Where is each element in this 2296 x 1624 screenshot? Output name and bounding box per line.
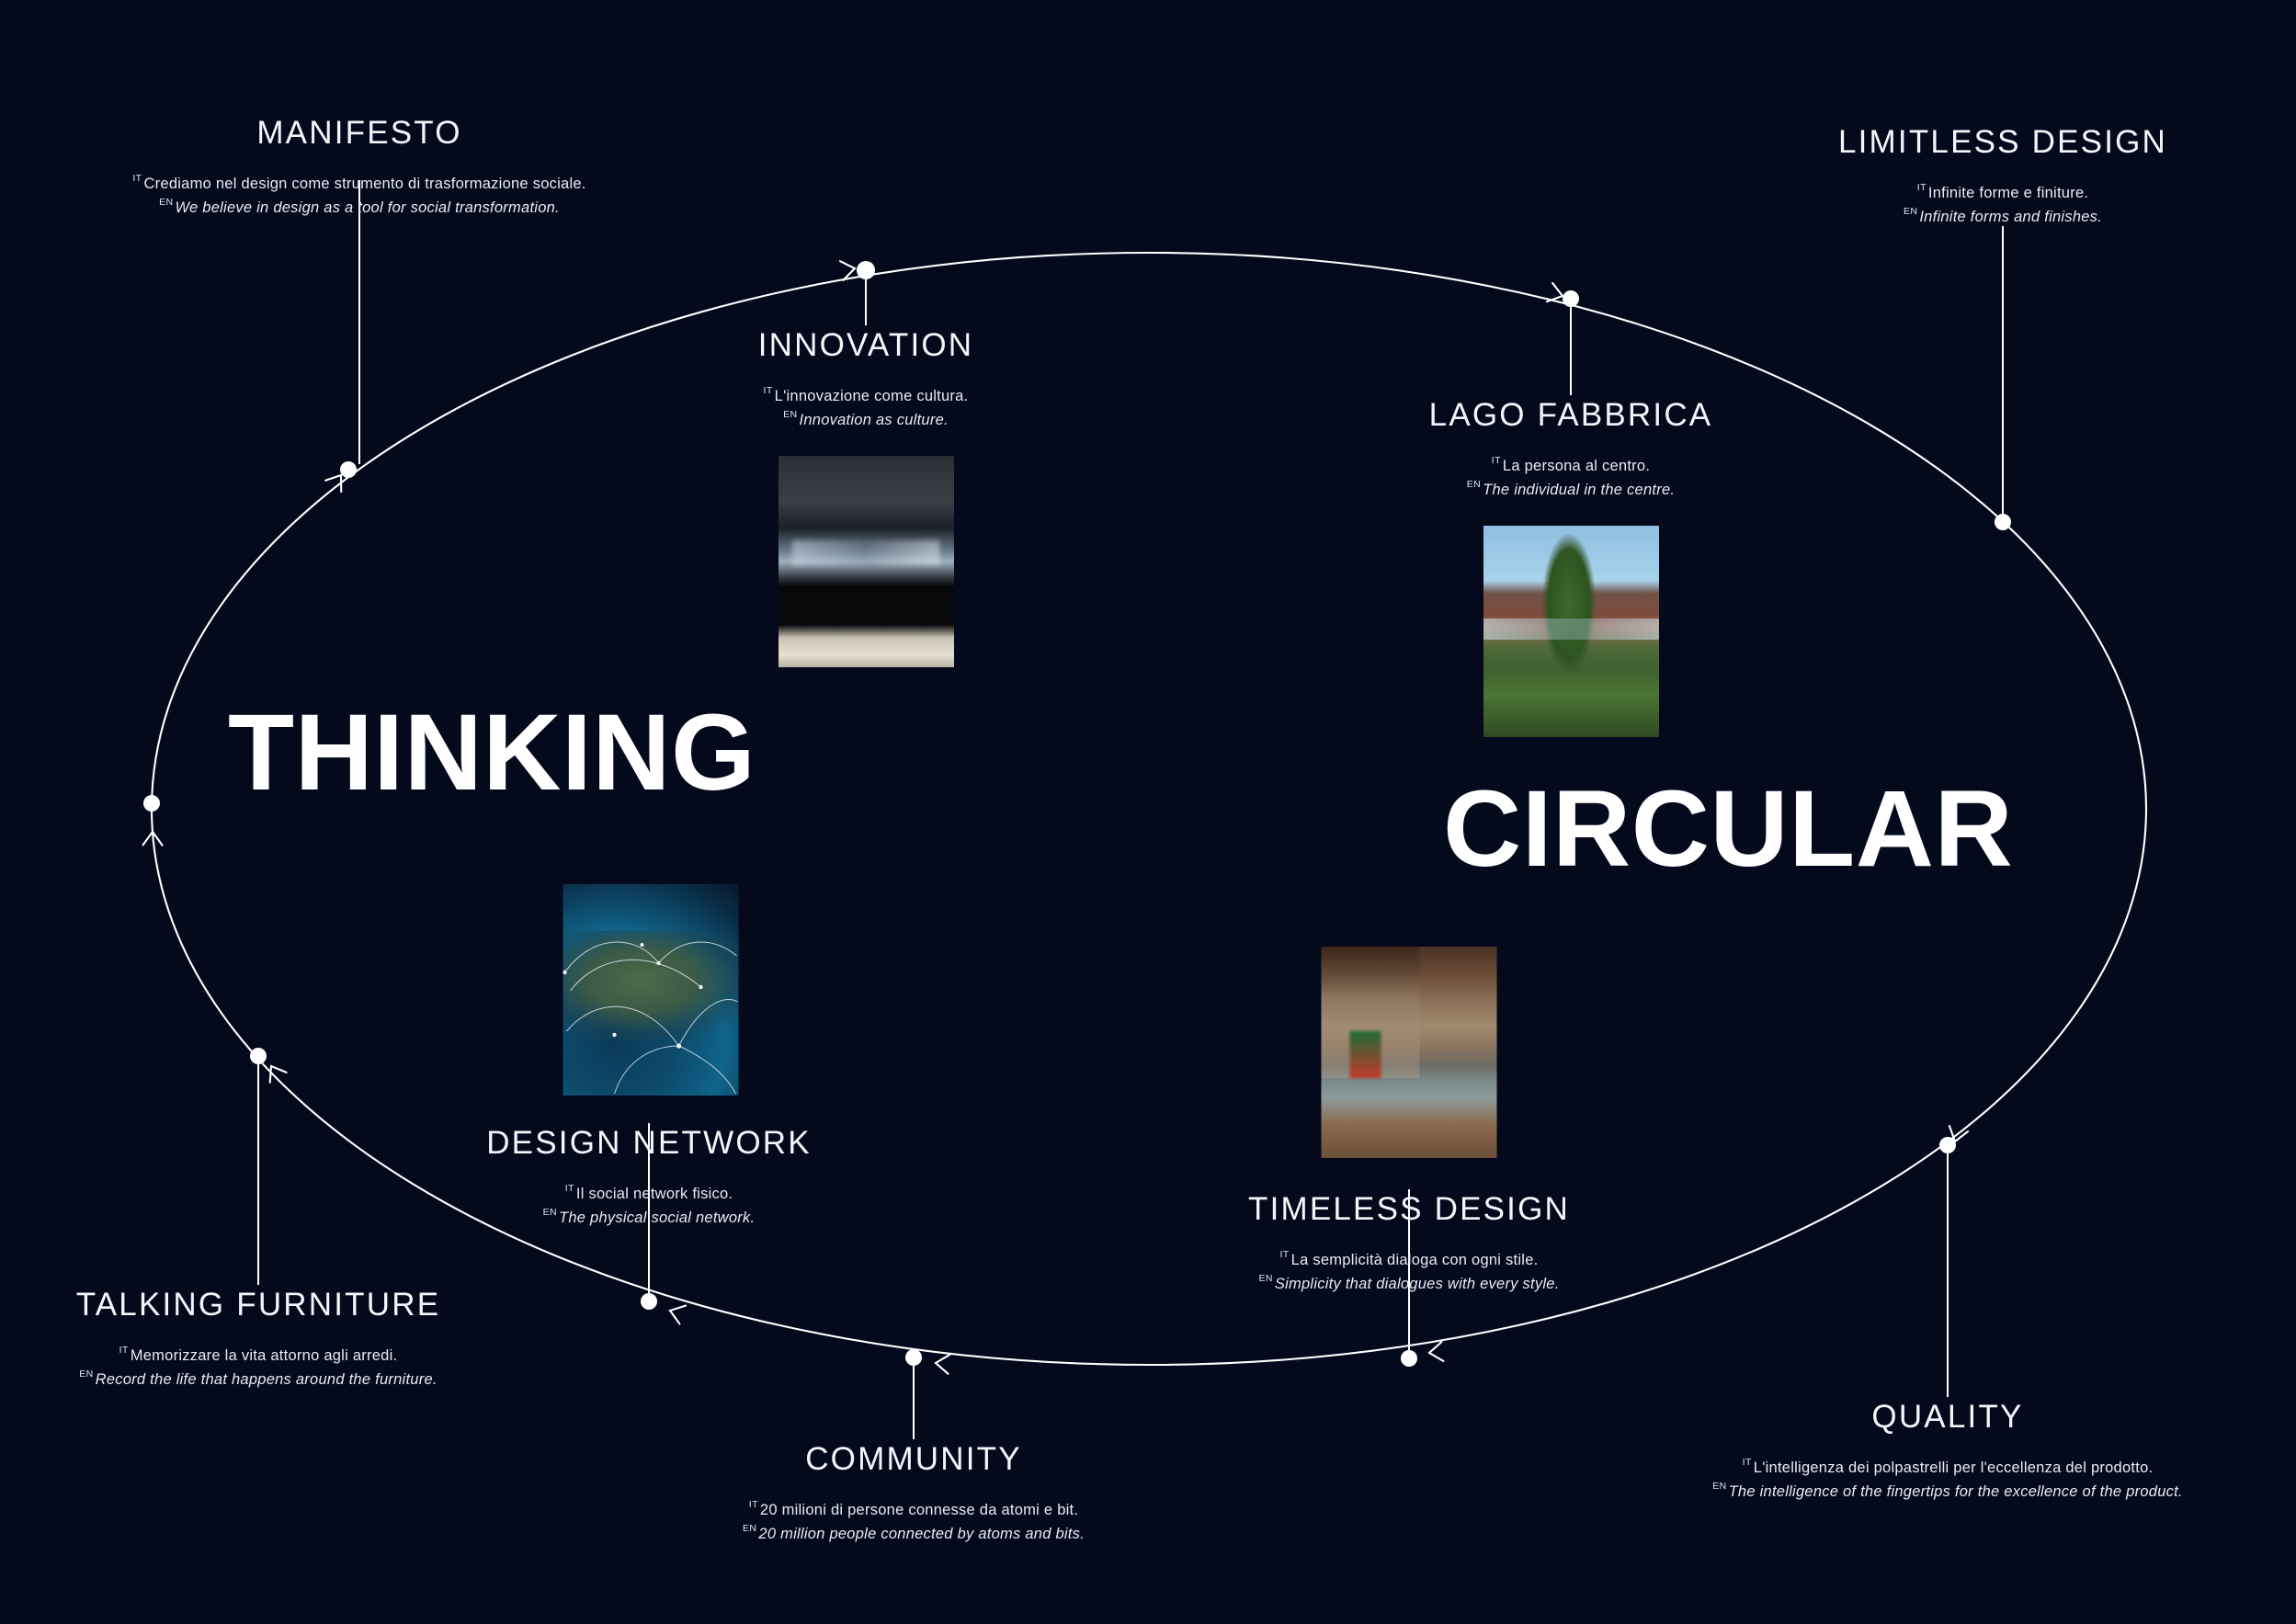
- caption-it-lago-fabbrica: ITLa persona al centro.: [1295, 454, 1847, 478]
- lang-tag-en: EN: [1712, 1481, 1726, 1492]
- node-captions-innovation: ITL'innovazione come cultura. ENInnovati…: [581, 384, 1151, 432]
- node-timeless-design[interactable]: TIMELESS DESIGN ITLa semplicità dialoga …: [1087, 1191, 1731, 1296]
- lang-tag-en: EN: [783, 409, 797, 420]
- node-limitless-design[interactable]: LIMITLESS DESIGN ITInfinite forme e fini…: [1709, 124, 2296, 229]
- caption-en-talking-furniture: ENRecord the life that happens around th…: [0, 1368, 580, 1391]
- caption-en-lago-fabbrica: ENThe individual in the centre.: [1295, 478, 1847, 502]
- node-title-innovation: INNOVATION: [581, 327, 1151, 364]
- node-dot-left-apex: [143, 795, 160, 812]
- lang-tag-en: EN: [743, 1523, 756, 1534]
- node-dot-community: [905, 1349, 922, 1366]
- node-captions-timeless-design: ITLa semplicità dialoga con ogni stile. …: [1087, 1248, 1731, 1296]
- lang-tag-it: IT: [132, 173, 142, 184]
- thumbnail-design-network[interactable]: [563, 884, 739, 1096]
- node-dot-talking-furniture: [250, 1048, 267, 1064]
- node-dot-manifesto: [340, 461, 357, 478]
- caption-it-design-network: ITIl social network fisico.: [327, 1182, 971, 1206]
- caption-en-timeless-design: ENSimplicity that dialogues with every s…: [1087, 1272, 1731, 1296]
- caption-en-community: EN20 million people connected by atoms a…: [592, 1522, 1235, 1546]
- headline-thinking: THINKING: [228, 698, 756, 807]
- node-title-lago-fabbrica: LAGO FABBRICA: [1295, 397, 1847, 434]
- node-dot-quality: [1939, 1137, 1956, 1153]
- caption-it-timeless-design: ITLa semplicità dialoga con ogni stile.: [1087, 1248, 1731, 1272]
- arrowhead-toward-quality: [1946, 1126, 1968, 1144]
- lang-tag-it: IT: [1492, 455, 1501, 466]
- caption-en-design-network: ENThe physical social network.: [327, 1206, 971, 1230]
- node-captions-lago-fabbrica: ITLa persona al centro. ENThe individual…: [1295, 454, 1847, 502]
- node-captions-design-network: ITIl social network fisico. ENThe physic…: [327, 1182, 971, 1230]
- node-captions-limitless-design: ITInfinite forme e finiture. ENInfinite …: [1709, 181, 2296, 229]
- lang-tag-en: EN: [1258, 1273, 1272, 1284]
- lang-tag-it: IT: [749, 1499, 758, 1510]
- node-title-talking-furniture: TALKING FURNITURE: [0, 1287, 580, 1323]
- lang-tag-en: EN: [1904, 206, 1917, 217]
- lang-tag-it: IT: [1280, 1249, 1290, 1260]
- arrowhead-left-apex: [142, 832, 163, 846]
- caption-it-limitless-design: ITInfinite forme e finiture.: [1709, 181, 2296, 205]
- node-manifesto[interactable]: MANIFESTO ITCrediamo nel design come str…: [10, 115, 709, 220]
- node-captions-talking-furniture: ITMemorizzare la vita attorno agli arred…: [0, 1344, 580, 1391]
- lang-tag-en: EN: [1467, 479, 1481, 490]
- caption-it-talking-furniture: ITMemorizzare la vita attorno agli arred…: [0, 1344, 580, 1368]
- thumbnail-timeless-design[interactable]: [1322, 947, 1497, 1158]
- arrowhead-toward-manifesto: [325, 470, 349, 492]
- headline-circular: CIRCULAR: [1443, 775, 2013, 883]
- node-title-quality: QUALITY: [1571, 1399, 2296, 1436]
- node-captions-manifesto: ITCrediamo nel design come strumento di …: [10, 172, 709, 220]
- node-dot-innovation: [857, 261, 875, 279]
- lang-tag-it: IT: [565, 1183, 574, 1194]
- caption-en-innovation: ENInnovation as culture.: [581, 408, 1151, 432]
- node-captions-quality: ITL'intelligenza dei polpastrelli per l'…: [1571, 1456, 2296, 1504]
- diagram-canvas: THINKING CIRCULAR MANIFESTO ITCrediamo n…: [0, 0, 2296, 1624]
- thumbnail-innovation[interactable]: [779, 456, 954, 667]
- network-arcs-overlay: [563, 884, 739, 1096]
- lang-tag-en: EN: [543, 1207, 557, 1218]
- caption-it-innovation: ITL'innovazione come cultura.: [581, 384, 1151, 408]
- node-title-community: COMMUNITY: [592, 1441, 1235, 1478]
- caption-en-limitless-design: ENInfinite forms and finishes.: [1709, 205, 2296, 229]
- node-title-manifesto: MANIFESTO: [10, 115, 709, 152]
- node-title-design-network: DESIGN NETWORK: [327, 1125, 971, 1162]
- lang-tag-it: IT: [119, 1345, 129, 1356]
- caption-it-quality: ITL'intelligenza dei polpastrelli per l'…: [1571, 1456, 2296, 1480]
- arrowhead-toward-design-network: [667, 1301, 686, 1323]
- lang-tag-it: IT: [1743, 1457, 1752, 1468]
- lang-tag-it: IT: [764, 385, 773, 396]
- node-dot-limitless-design: [1995, 514, 2011, 530]
- node-captions-community: IT20 milioni di persone connesse da atom…: [592, 1498, 1235, 1546]
- node-title-timeless-design: TIMELESS DESIGN: [1087, 1191, 1731, 1228]
- arrowhead-toward-innovation: [839, 258, 857, 280]
- node-quality[interactable]: QUALITY ITL'intelligenza dei polpastrell…: [1571, 1399, 2296, 1504]
- arrowhead-toward-lago-fabbrica: [1547, 283, 1565, 305]
- node-dot-design-network: [641, 1293, 657, 1310]
- caption-en-quality: ENThe intelligence of the fingertips for…: [1571, 1480, 2296, 1504]
- lang-tag-en: EN: [159, 197, 173, 208]
- lang-tag-en: EN: [79, 1368, 93, 1380]
- node-community[interactable]: COMMUNITY IT20 milioni di persone connes…: [592, 1441, 1235, 1546]
- caption-en-manifesto: ENWe believe in design as a tool for soc…: [10, 196, 709, 220]
- node-title-limitless-design: LIMITLESS DESIGN: [1709, 124, 2296, 161]
- node-talking-furniture[interactable]: TALKING FURNITURE ITMemorizzare la vita …: [0, 1287, 580, 1391]
- arrowhead-toward-talking-furniture: [263, 1061, 287, 1083]
- node-dot-timeless-design: [1401, 1350, 1417, 1367]
- caption-it-community: IT20 milioni di persone connesse da atom…: [592, 1498, 1235, 1522]
- thumbnail-lago-fabbrica[interactable]: [1483, 526, 1659, 737]
- caption-it-manifesto: ITCrediamo nel design come strumento di …: [10, 172, 709, 196]
- lang-tag-it: IT: [1917, 182, 1927, 193]
- node-dot-lago-fabbrica: [1563, 290, 1579, 307]
- arrowhead-toward-timeless-design: [1428, 1342, 1445, 1363]
- node-innovation[interactable]: INNOVATION ITL'innovazione come cultura.…: [581, 327, 1151, 667]
- node-design-network[interactable]: DESIGN NETWORK ITIl social network fisic…: [327, 1125, 971, 1230]
- arrowhead-toward-community: [935, 1354, 949, 1374]
- node-lago-fabbrica[interactable]: LAGO FABBRICA ITLa persona al centro. EN…: [1295, 397, 1847, 737]
